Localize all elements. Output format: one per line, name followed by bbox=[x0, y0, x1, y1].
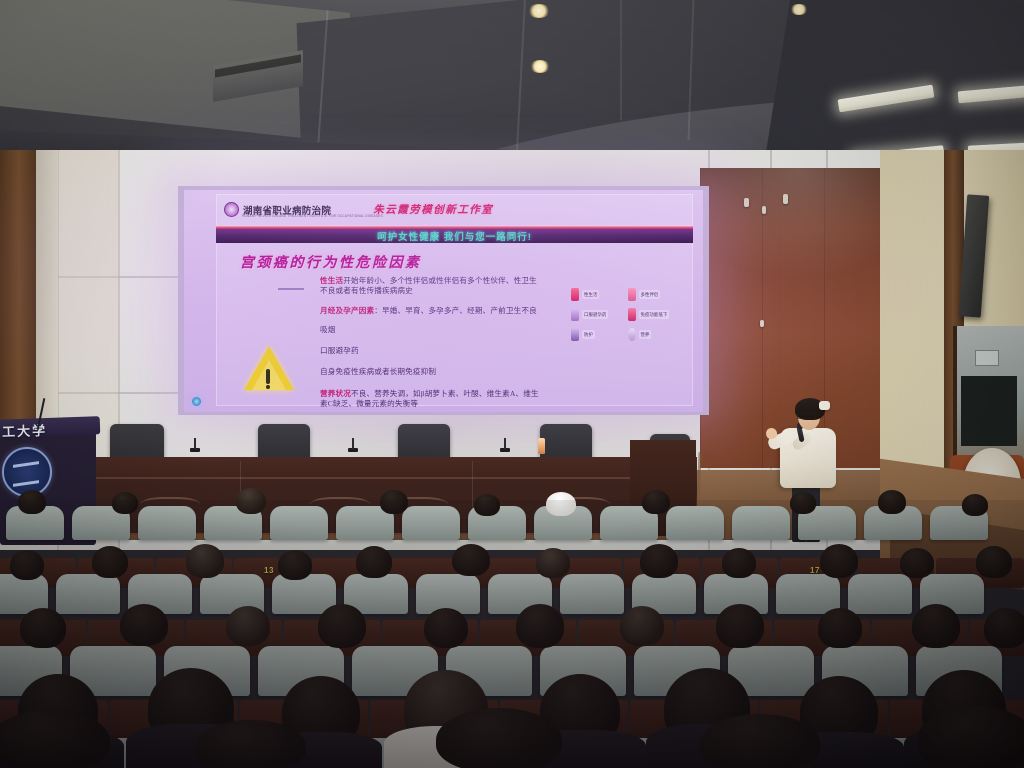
audience-head-foreground bbox=[0, 710, 110, 768]
icon-label: 多性伴侣 bbox=[639, 290, 661, 299]
audience-head bbox=[226, 606, 270, 646]
audience-head-foreground bbox=[436, 708, 562, 768]
audience-head bbox=[900, 548, 934, 578]
audience-head bbox=[722, 548, 756, 578]
warning-exclamation-dot bbox=[266, 385, 270, 389]
slide-icon-grid: 性生活 多性伴侣 口服避孕药 免疫功能低下 bbox=[571, 288, 679, 341]
wall-pilaster-left bbox=[36, 150, 58, 450]
audience-head bbox=[112, 492, 138, 514]
projection-screen: 湖南省职业病防治院 朱云霞劳模创新工作室 HUNAN PREVENTION AN… bbox=[178, 186, 709, 415]
slide-content-area: 湖南省职业病防治院 朱云霞劳模创新工作室 HUNAN PREVENTION AN… bbox=[216, 194, 693, 406]
slide-bullet: 营养状况不良、营养失调，如β胡萝卜素、叶酸、维生素A、维生素C缺乏、微量元素的失… bbox=[320, 389, 542, 410]
icon-label: 性生活 bbox=[582, 290, 599, 299]
studio-name: 朱云霞劳模创新工作室 bbox=[373, 202, 493, 217]
audience-head bbox=[716, 604, 764, 648]
slide-bullet: 月经及孕产因素：早婚、早育、多孕多产、经期、产前卫生不良 bbox=[320, 306, 542, 316]
bullet-rest: ：早婚、早育、多孕多产、经期、产前卫生不良 bbox=[374, 306, 537, 315]
water-bottle bbox=[538, 438, 545, 454]
audience-head bbox=[878, 490, 906, 514]
slide-slogan: 呵护女性健康 我们与您一路同行! bbox=[377, 229, 532, 243]
audience-head bbox=[790, 492, 816, 514]
audience-head bbox=[380, 490, 408, 514]
cigarette-icon bbox=[571, 308, 579, 321]
audience-head bbox=[976, 546, 1012, 578]
bullet-rest: 自身免疫性疾病或者长期免疫抑制 bbox=[320, 367, 436, 376]
table-trim bbox=[80, 477, 689, 479]
audience-head bbox=[620, 606, 664, 646]
nutrition-icon bbox=[628, 328, 636, 341]
slide-bullet-list: 性生活开始年龄小、多个性伴侣或性伴侣有多个性伙伴、性卫生不良或者有性传播疾病病史… bbox=[320, 276, 542, 412]
panel-clip bbox=[760, 320, 764, 327]
seat-number: 13 bbox=[264, 566, 274, 575]
bullet-lead: 营养状况 bbox=[320, 389, 351, 398]
auditorium-seat[interactable] bbox=[138, 506, 196, 540]
slide-title: 宫颈癌的行为性危险因素 bbox=[240, 252, 422, 272]
presentation-slide: 湖南省职业病防治院 朱云霞劳模创新工作室 HUNAN PREVENTION AN… bbox=[184, 190, 703, 412]
audience-head-foreground bbox=[196, 720, 306, 768]
wall-sign bbox=[975, 350, 999, 366]
glasses-icon bbox=[797, 413, 816, 419]
bullet-rest: 口服避孕药 bbox=[320, 346, 359, 355]
slide-bullet: 口服避孕药 bbox=[320, 346, 542, 356]
bullet-rest: 开始年龄小、多个性伴侣或性伴侣有多个性伙伴、性卫生不良或者有性传播疾病病史 bbox=[320, 276, 537, 295]
panel-clip bbox=[783, 194, 788, 204]
audience-head bbox=[20, 608, 66, 648]
audience-seating: 12 13 17 bbox=[0, 500, 1024, 768]
gooseneck-microphone-icon bbox=[194, 438, 196, 449]
audience-head-foreground bbox=[918, 706, 1024, 768]
virus-icon bbox=[628, 308, 636, 321]
slide-bullet: 性生活开始年龄小、多个性伴侣或性伴侣有多个性伙伴、性卫生不良或者有性传播疾病病史 bbox=[320, 276, 542, 297]
slide-bullet: 吸烟 bbox=[320, 325, 542, 335]
icon-label: 营养 bbox=[639, 330, 652, 339]
slide-body: 宫颈癌的行为性危险因素 性生活开始年龄小、多个性伴侣或性伴侣有多个性伙伴、性卫生… bbox=[216, 244, 693, 406]
audience-head bbox=[424, 608, 468, 648]
audience-head bbox=[452, 544, 490, 576]
audience-head bbox=[818, 608, 862, 648]
audience-head bbox=[318, 604, 366, 648]
auditorium-photo: 湖南省职业病防治院 朱云霞劳模创新工作室 HUNAN PREVENTION AN… bbox=[0, 0, 1024, 768]
icon-cell: 防护 bbox=[571, 328, 623, 341]
slide-bullet: 自身免疫性疾病或者长期免疫抑制 bbox=[320, 367, 542, 377]
audience-head bbox=[18, 490, 46, 514]
audience-head bbox=[640, 544, 678, 578]
ceiling-spotlight-icon bbox=[530, 60, 550, 73]
audience-head bbox=[120, 604, 168, 646]
slide-slogan-bar: 呵护女性健康 我们与您一路同行! bbox=[216, 229, 693, 243]
audience-head bbox=[912, 604, 960, 648]
hair-accessory bbox=[819, 401, 830, 410]
gooseneck-microphone-icon bbox=[352, 438, 354, 449]
auditorium-seat[interactable] bbox=[56, 574, 120, 614]
auditorium-seat[interactable] bbox=[666, 506, 724, 540]
panel-clip bbox=[744, 198, 749, 207]
bullet-rest: 吸烟 bbox=[320, 325, 336, 334]
ceiling-seam bbox=[620, 0, 622, 120]
icon-cell: 性生活 bbox=[571, 288, 623, 301]
bullet-rest: 不良、营养失调，如β胡萝卜素、叶酸、维生素A、维生素C缺乏、微量元素的失衡等 bbox=[320, 389, 539, 408]
icon-cell: 免疫功能低下 bbox=[628, 308, 680, 321]
audience-head bbox=[536, 548, 570, 578]
icon-label: 口服避孕药 bbox=[582, 310, 608, 319]
auditorium-seat[interactable] bbox=[732, 506, 790, 540]
audience-head bbox=[186, 544, 224, 578]
audience-head bbox=[356, 546, 392, 578]
audience-head-with-cap bbox=[546, 492, 576, 516]
bullet-dash bbox=[278, 288, 304, 290]
audience-head bbox=[10, 550, 44, 580]
auditorium-seat[interactable] bbox=[848, 574, 912, 614]
hospital-emblem-icon bbox=[224, 202, 239, 217]
lipstick-icon bbox=[571, 288, 579, 301]
icon-label: 防护 bbox=[582, 330, 595, 339]
projector-indicator-icon bbox=[192, 397, 201, 406]
ceiling-spotlight-icon bbox=[790, 4, 808, 15]
icon-cell: 营养 bbox=[628, 328, 680, 341]
auditorium-seat[interactable] bbox=[560, 574, 624, 614]
gooseneck-microphone-icon bbox=[504, 438, 506, 449]
audience-head bbox=[516, 604, 564, 648]
lectern-university-name: 工大学 bbox=[2, 419, 89, 441]
warning-exclamation-bar bbox=[266, 369, 270, 384]
female-figure-icon bbox=[628, 288, 636, 301]
panel-clip bbox=[762, 206, 766, 214]
icon-cell: 多性伴侣 bbox=[628, 288, 680, 301]
hospital-subtitle: HUNAN PREVENTION AND TREATMENT INSTITUTE… bbox=[242, 214, 383, 218]
shield-icon bbox=[571, 328, 579, 341]
audience-head bbox=[642, 490, 670, 514]
audience-head bbox=[962, 494, 988, 516]
audience-head bbox=[92, 546, 128, 578]
audience-head bbox=[820, 544, 858, 578]
slide-header: 湖南省职业病防治院 朱云霞劳模创新工作室 bbox=[216, 194, 693, 225]
auditorium-seat[interactable] bbox=[402, 506, 460, 540]
bullet-lead: 月经及孕产因素 bbox=[320, 306, 374, 315]
bullet-lead: 性生活 bbox=[320, 276, 343, 285]
icon-cell: 口服避孕药 bbox=[571, 308, 623, 321]
audience-head bbox=[278, 550, 312, 580]
auditorium-seat[interactable] bbox=[270, 506, 328, 540]
audience-head bbox=[984, 608, 1024, 648]
audience-head-foreground bbox=[700, 714, 820, 768]
audience-head bbox=[474, 494, 500, 516]
audience-head bbox=[236, 488, 266, 514]
dark-interior bbox=[961, 376, 1017, 446]
ceiling-spotlight-icon bbox=[528, 4, 550, 18]
university-emblem-icon bbox=[2, 447, 52, 497]
icon-label: 免疫功能低下 bbox=[639, 310, 670, 319]
auditorium-seat[interactable] bbox=[776, 574, 840, 614]
